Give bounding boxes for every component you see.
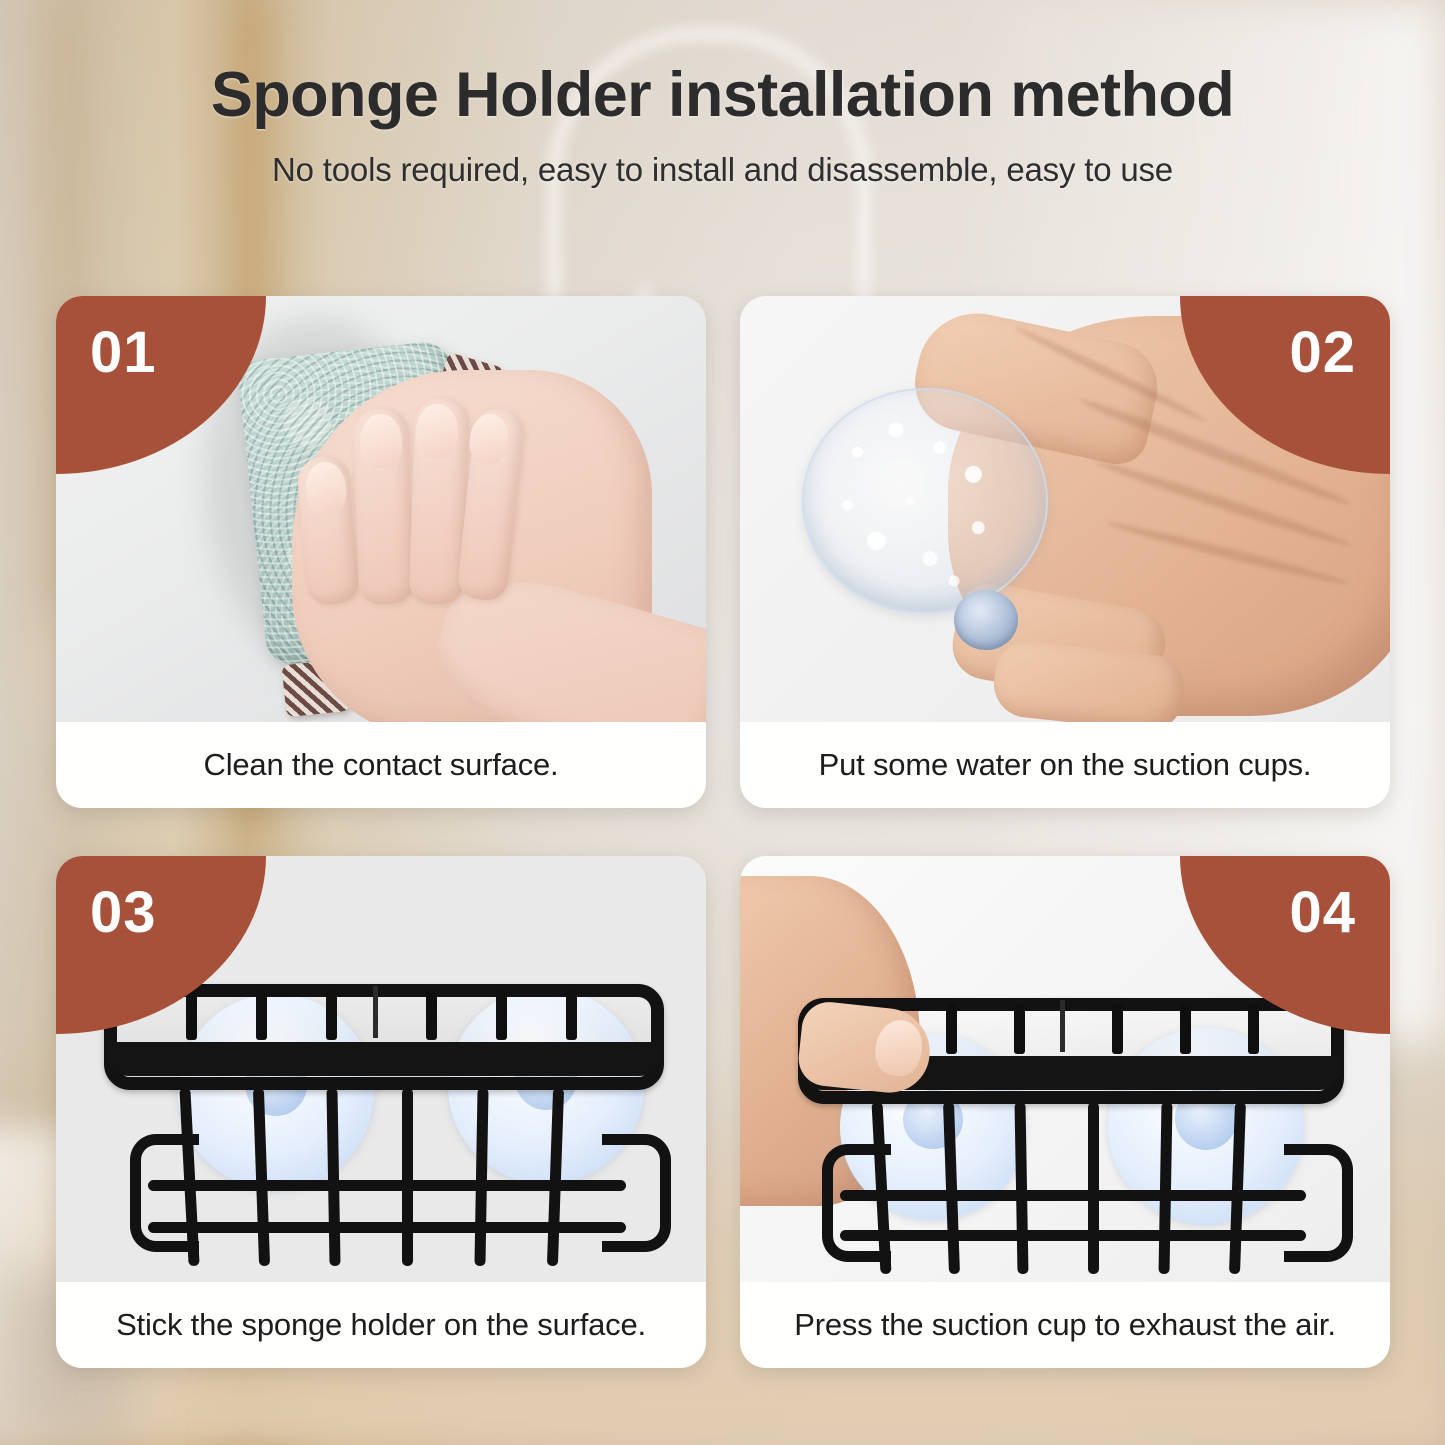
page-title: Sponge Holder installation method [0,0,1445,129]
rim-bar-2 [946,1004,957,1054]
step-number-03: 03 [90,884,157,942]
step-number-04: 04 [1289,884,1356,942]
step-photo-03: 03 [56,856,706,1282]
basket-rim-seam [1060,1000,1065,1052]
rim-bar-2 [256,990,267,1040]
step-caption-text-03: Stick the sponge holder on the surface. [116,1307,646,1343]
suction-cup-wet [802,388,1048,614]
step-caption-panel-01: Clean the contact surface. [56,722,706,808]
basket-wire-3 [326,1088,340,1266]
step-card-04[interactable]: 04 Press the suction cup to exhaust the … [740,856,1390,1368]
basket-wire-3 [1014,1102,1028,1274]
rim-bar-4 [426,990,437,1040]
basket-rim-seam [373,986,378,1038]
rim-bar-5 [496,990,507,1040]
step-photo-02: 02 [740,296,1390,722]
rim-bar-5 [1180,1004,1191,1054]
basket-cross-bar [148,1222,626,1233]
basket-hook-right [1284,1144,1353,1262]
step-card-02[interactable]: 02 Put some water on the suction cups. [740,296,1390,808]
step-photo-01: 01 [56,296,706,722]
step-caption-panel-02: Put some water on the suction cups. [740,722,1390,808]
basket-wire-5 [474,1088,488,1266]
sponge-holder-basket [104,984,664,1274]
basket-rim-lip [108,1042,660,1076]
basket-wire-6 [1229,1102,1246,1274]
rim-bar-6 [566,990,577,1040]
basket-wire-6 [547,1088,564,1266]
step-caption-text-02: Put some water on the suction cups. [819,747,1312,783]
basket-wire-2 [253,1088,270,1266]
basket-hook-left [130,1134,199,1252]
rim-bar-1 [186,990,197,1040]
step-caption-panel-04: Press the suction cup to exhaust the air… [740,1282,1390,1368]
basket-cross-bar-upper [148,1180,626,1191]
steps-grid: 01 Clean the contact surface. 02 [56,296,1390,1368]
suction-cup-center-nub [954,590,1018,650]
basket-wire-5 [1159,1102,1173,1274]
basket-hook-left [822,1144,891,1262]
rim-bar-6 [1248,1004,1259,1054]
header: Sponge Holder installation method No too… [0,0,1445,189]
step-photo-04: 04 [740,856,1390,1282]
step-caption-text-01: Clean the contact surface. [204,747,559,783]
rim-bar-3 [326,990,337,1040]
basket-wire-2 [943,1102,960,1274]
step-card-01[interactable]: 01 Clean the contact surface. [56,296,706,808]
basket-hook-right [602,1134,671,1252]
step-number-01: 01 [90,324,157,382]
rim-bar-3 [1014,1004,1025,1054]
step-caption-panel-03: Stick the sponge holder on the surface. [56,1282,706,1368]
basket-wire-4 [402,1088,413,1266]
basket-cross-bar-upper [840,1190,1306,1201]
step-card-03[interactable]: 03 Stick the sponge holder on the surfac… [56,856,706,1368]
page-subtitle: No tools required, easy to install and d… [0,129,1445,189]
fingernail-middle [415,403,459,458]
basket-cross-bar [840,1230,1306,1241]
step-caption-text-04: Press the suction cup to exhaust the air… [794,1307,1336,1343]
rim-bar-4 [1112,1004,1123,1054]
basket-wire-4 [1088,1102,1099,1274]
